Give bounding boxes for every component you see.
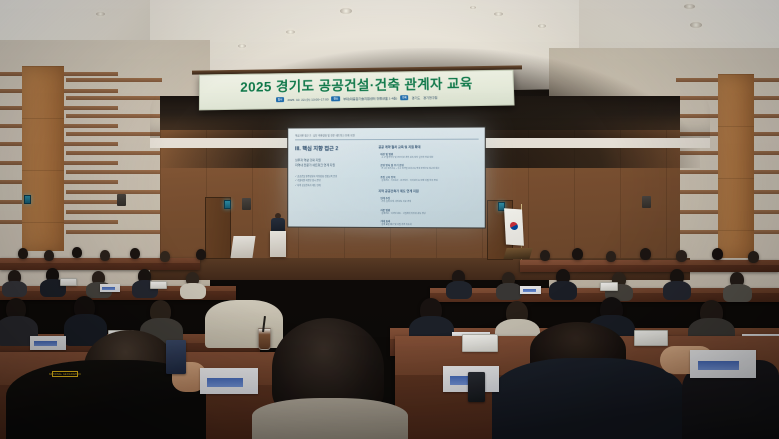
- wall-speaker-icon: [117, 194, 126, 206]
- slide-section-title: 공공 계약 절차 교육 및 지원 확대: [378, 144, 478, 149]
- downlight-icon: [470, 6, 476, 9]
- downlight-icon: [690, 22, 702, 28]
- lunchbox-foreground-2: [634, 330, 668, 346]
- slide-text: 설계 품질 제고 및 사업 지연 최소화: [381, 224, 478, 228]
- slide-text: 시·군 발주부서 및 공공기관 계약·감독 담당 실무자 전원 대상: [381, 157, 478, 161]
- lecture-hall-photo: 핵심지향 접근 2 : 실무 역량강화 및 전문·네트워크 연계 지원 III.…: [0, 0, 779, 439]
- iced-coffee-cup: [258, 328, 271, 350]
- slide-top-rule: 핵심지향 접근 2 : 실무 역량강화 및 전문·네트워크 연계 지원: [295, 133, 479, 141]
- banner-organizer: 경기연구원: [423, 94, 437, 99]
- phone-on-desk: [468, 372, 485, 402]
- projection-screen: 핵심지향 접근 2 : 실무 역량강화 및 전문·네트워크 연계 지원 III.…: [287, 126, 486, 228]
- event-banner: 2025 경기도 공공건설·건축 관계자 교육 일시 2025. 10. 22.…: [199, 70, 515, 111]
- exit-sign-icon: [24, 195, 31, 204]
- booklet-foreground-left: [200, 368, 258, 394]
- slide-text: 기획·설계 단계 사전검토 자문 연계: [381, 201, 478, 205]
- banner-host-pill: 주최: [400, 95, 409, 100]
- slide-check-item: ✓ 지역 공공건축가 제도 연계: [295, 184, 372, 188]
- wood-column-right: [718, 74, 754, 258]
- banner-date: 2025. 10. 22.(수) 13:00~17:00: [287, 96, 328, 102]
- slide-text: 설계변경 · 기성검사 · 준공정산 · 하자관리 등 분쟁 다발 항목 중심: [381, 180, 478, 184]
- downlight-icon: [238, 44, 246, 48]
- downlight-icon: [494, 12, 503, 16]
- phone-in-hand: [166, 340, 186, 374]
- banner-host: 경기도: [412, 95, 421, 100]
- slide-content: 핵심지향 접근 2 : 실무 역량강화 및 전문·네트워크 연계 지원 III.…: [288, 127, 485, 227]
- slide-sub: 기대 효과: [380, 219, 478, 223]
- natgeo-logo-text: NATIONAL GEOGRAPHIC: [49, 373, 81, 376]
- taeguk-symbol-icon: [510, 222, 518, 231]
- lunchbox-foreground: [462, 334, 498, 352]
- slide-sub: 중점 교육 항목: [380, 175, 478, 179]
- slide-sub: 자문 범위: [380, 208, 478, 212]
- booklet-foreground-right: [690, 350, 756, 378]
- wall-speaker-icon: [642, 196, 651, 208]
- slide-sub: 연계 추진: [380, 196, 478, 200]
- attendee-foreground-center-body: [252, 398, 408, 439]
- slide-section: 공공 계약 절차 교육 및 지원 확대 대상 및 범위 시·군 발주부서 및 공…: [378, 144, 478, 184]
- banner-place: 부대(대융합기술지원센터 컨벤션홀 1·4층): [343, 95, 397, 101]
- natgeo-logo-icon: NATIONAL GEOGRAPHIC: [52, 371, 78, 377]
- slide-sub: 운영 방식 및 주기 운영: [380, 163, 478, 167]
- attendee-foreground-right-body: [492, 358, 684, 439]
- slide-text: 설계공모 · 디자인 검토 · 사업계획 타당성 검토 전반: [381, 213, 478, 217]
- slide-lead-2: 지역내 전문가·네트워크 연계 지원: [295, 163, 372, 168]
- booklet: [30, 336, 66, 350]
- banner-subtitle: 일시 2025. 10. 22.(수) 13:00~17:00 장소 부대(대융…: [276, 94, 438, 102]
- wood-column-left: [22, 66, 64, 251]
- downlight-icon: [538, 24, 546, 28]
- downlight-icon: [286, 30, 295, 34]
- wall-speaker-icon: [242, 198, 251, 210]
- downlight-icon: [684, 4, 695, 9]
- wall-slats-midleft: [66, 74, 162, 250]
- slide-heading: III. 핵심 지향 접근 2: [295, 144, 372, 152]
- banner-date-pill: 일시: [276, 97, 285, 102]
- downlight-icon: [340, 8, 352, 14]
- slide-section: 지역 공공건축가 제도 연계 지원 연계 추진 기획·설계 단계 사전검토 자문…: [378, 188, 478, 227]
- exit-sign-icon: [224, 200, 231, 209]
- banner-place-pill: 장소: [332, 96, 341, 101]
- attendee-cream-top: [205, 300, 283, 348]
- slide-text: 연 2회 정기교육 + 수시 권역별 순회교육 병행 운영으로 접근성 제고: [381, 168, 478, 172]
- downlight-icon: [96, 12, 105, 16]
- slide-section-title: 지역 공공건축가 제도 연계 지원: [378, 188, 478, 193]
- banner-title: 2025 경기도 공공건설·건축 관계자 교육: [240, 78, 473, 95]
- slide-sub: 대상 및 범위: [380, 152, 478, 156]
